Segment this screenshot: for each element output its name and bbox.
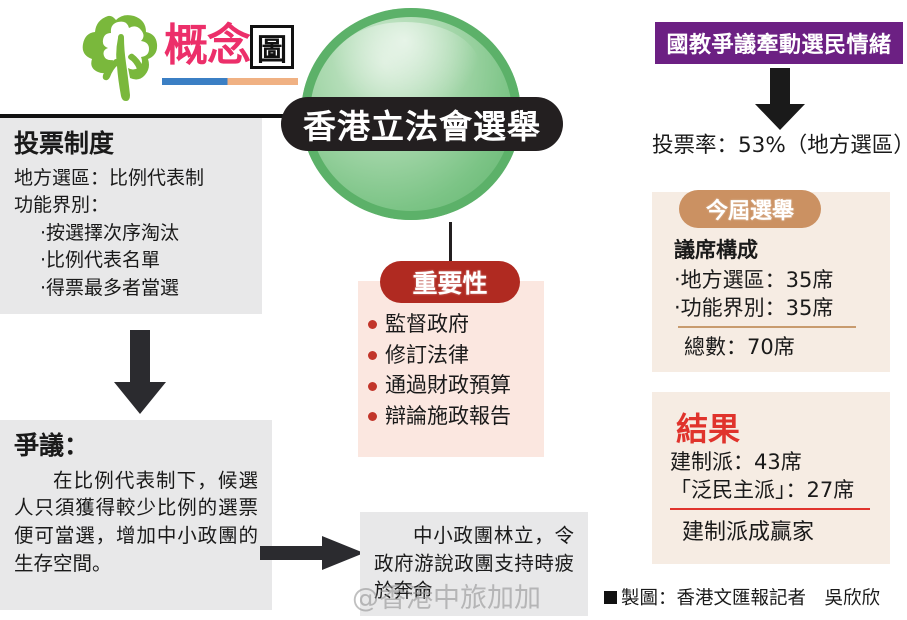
bullet-dot-icon	[368, 351, 377, 360]
seat-total-divider	[678, 326, 856, 328]
seat-row: ‧功能界別：35席	[674, 295, 894, 323]
current-election-title-pill: 今屆選舉	[679, 190, 821, 228]
dispute-panel: 爭議： 在比例代表制下，候選人只須獲得較少比例的選票便可當選，增加中小政團的生存…	[0, 420, 272, 610]
banner-label: 國教爭議牽動選民情緒	[666, 27, 891, 59]
voting-system-bullet: ‧得票最多者當選	[14, 275, 248, 303]
importance-item-label: 監督政府	[385, 312, 469, 338]
bullet-dot-icon	[368, 412, 377, 421]
voting-system-line: 地方選區：比例代表制	[14, 165, 248, 193]
connector-center-to-importance	[449, 222, 452, 266]
arrow-right-to-consequence	[260, 533, 364, 573]
list-item: 修訂法律	[368, 343, 548, 369]
arrow-down-to-turnout	[752, 68, 808, 130]
importance-list: 監督政府 修訂法律 通過財政預算 辯論施政報告	[368, 312, 548, 434]
infographic-canvas: 概念 圖 香港立法會選舉 投票制度 地方選區：比例代表制 功能界別： ‧按選擇次…	[0, 0, 907, 620]
logo-boxed-char: 圖	[250, 25, 294, 69]
logo-underline	[162, 78, 298, 85]
logo: 概念 圖	[78, 6, 278, 106]
dispute-heading: 爭議：	[14, 432, 258, 461]
watermark: @香港中旅加加	[352, 576, 541, 615]
logo-word: 概念	[164, 24, 250, 68]
voting-system-bullet: ‧比例代表名單	[14, 247, 248, 275]
voting-system-bullet: ‧按選擇次序淘汰	[14, 220, 248, 248]
result-divider	[670, 508, 870, 510]
voting-system-line: 功能界別：	[14, 192, 248, 220]
importance-item-label: 辯論施政報告	[385, 404, 511, 430]
current-election-title: 今屆選舉	[706, 193, 794, 225]
result-row: 「泛民主派」：27席	[670, 476, 896, 504]
page-title: 香港立法會選舉	[303, 100, 541, 148]
seat-row: ‧地方選區：35席	[674, 267, 894, 295]
voting-system-panel: 投票制度 地方選區：比例代表制 功能界別： ‧按選擇次序淘汰 ‧比例代表名單 ‧…	[0, 118, 262, 314]
result-title: 結果	[676, 404, 740, 450]
turnout-text: 投票率：53%（地方選區）	[652, 128, 907, 159]
seat-composition-heading: 議席構成	[674, 234, 894, 264]
current-election-body: 議席構成 ‧地方選區：35席 ‧功能界別：35席 總數：70席	[674, 234, 894, 361]
voting-system-heading: 投票制度	[14, 130, 248, 159]
national-education-banner: 國教爭議牽動選民情緒	[655, 22, 903, 64]
list-item: 辯論施政報告	[368, 404, 548, 430]
footer-credit-label: 製圖：香港文匯報記者 吳欣欣	[621, 584, 880, 610]
importance-title-pill: 重要性	[380, 261, 520, 303]
tree-brush-icon	[78, 8, 168, 104]
list-item: 通過財政預算	[368, 373, 548, 399]
bullet-dot-icon	[368, 320, 377, 329]
arrow-down-to-dispute	[110, 330, 170, 414]
result-body: 建制派：43席 「泛民主派」：27席 建制派成贏家	[670, 448, 896, 546]
importance-title: 重要性	[412, 264, 487, 300]
arrow-down-icon	[752, 68, 808, 130]
arrow-right-icon	[260, 533, 364, 573]
square-bullet-icon	[604, 591, 617, 604]
dispute-paragraph: 在比例代表制下，候選人只須獲得較少比例的選票便可當選，增加中小政團的生存空間。	[14, 467, 258, 578]
importance-item-label: 通過財政預算	[385, 373, 511, 399]
result-row: 建制派：43席	[670, 448, 896, 476]
bullet-dot-icon	[368, 382, 377, 391]
importance-item-label: 修訂法律	[385, 343, 469, 369]
result-conclusion: 建制派成贏家	[670, 514, 896, 546]
list-item: 監督政府	[368, 312, 548, 338]
footer-credit: 製圖：香港文匯報記者 吳欣欣	[604, 584, 907, 610]
seat-total: 總數：70席	[674, 331, 894, 361]
main-title-pill: 香港立法會選舉	[281, 97, 563, 151]
arrow-down-icon	[110, 330, 170, 414]
